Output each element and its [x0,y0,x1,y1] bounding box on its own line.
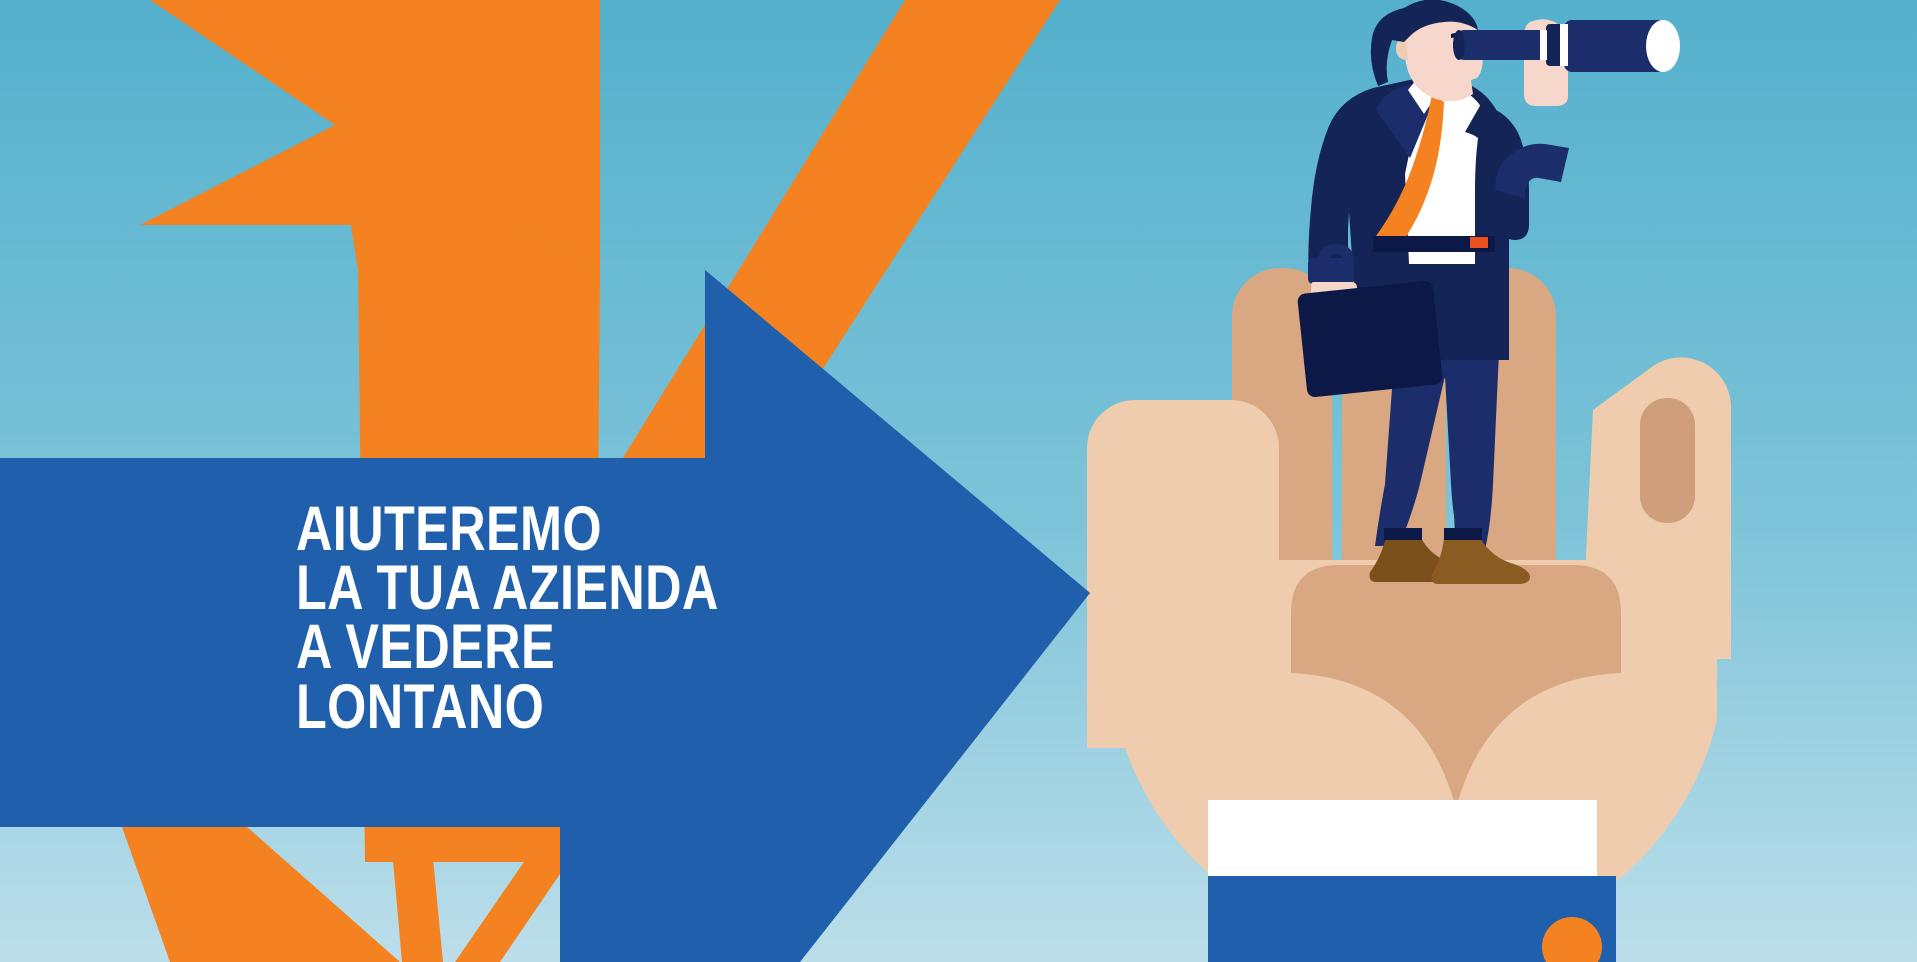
thumbnail [1640,398,1695,523]
briefcase [1297,280,1443,398]
poster-canvas: AIUTEREMO LA TUA AZIENDA A VEDERE LONTAN… [0,0,1917,962]
belt-buckle [1470,237,1488,248]
shirt-cuff-band [1208,800,1597,876]
telescope-lens [1646,20,1680,72]
poster-artwork [0,0,1917,962]
